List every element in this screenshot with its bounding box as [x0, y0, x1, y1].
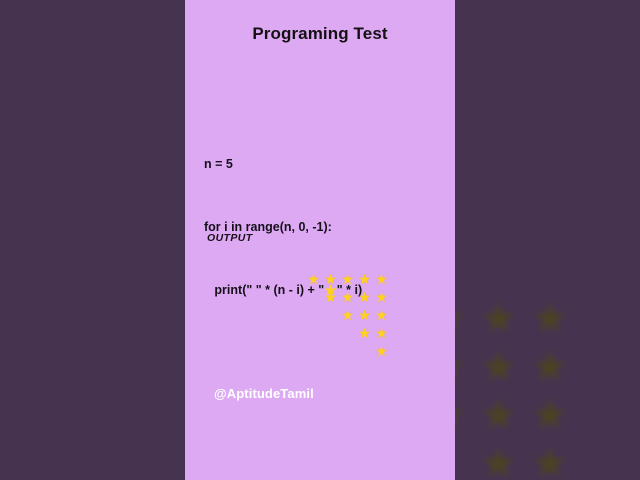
star-icon: ★: [373, 342, 390, 360]
channel-watermark: @AptitudeTamil: [214, 386, 314, 401]
star-row: ★★★: [305, 306, 390, 324]
code-line-1: n = 5: [204, 154, 362, 175]
content-panel: Programing Test n = 5 for i in range(n, …: [185, 0, 455, 480]
star-row: ★★: [305, 324, 390, 342]
star-icon: ★: [373, 270, 390, 288]
star-row: ★★★★: [305, 288, 390, 306]
star-row: ★: [305, 342, 390, 360]
star-icon: ★: [524, 296, 575, 344]
star-icon: ★: [356, 324, 373, 342]
star-icon: ★: [473, 393, 524, 441]
star-icon: ★: [339, 270, 356, 288]
star-icon: ★: [356, 288, 373, 306]
star-icon: ★: [524, 441, 575, 480]
star-icon: ★: [305, 270, 322, 288]
star-icon: ★: [473, 441, 524, 480]
page-title: Programing Test: [185, 24, 455, 44]
star-icon: ★: [373, 324, 390, 342]
star-icon: ★: [524, 345, 575, 393]
star-icon: ★: [356, 270, 373, 288]
star-icon: ★: [373, 288, 390, 306]
star-icon: ★: [339, 306, 356, 324]
video-frame: for i in print " * i) OUTPUT ★★★★★★★★★★★…: [0, 0, 640, 480]
star-icon: ★: [322, 288, 339, 306]
star-row: ★★★★★: [305, 270, 390, 288]
star-icon: ★: [524, 393, 575, 441]
star-pattern-output: ★★★★★★★★★★★★★★★: [305, 270, 390, 360]
star-icon: ★: [473, 296, 524, 344]
star-icon: ★: [473, 345, 524, 393]
star-icon: ★: [322, 270, 339, 288]
output-label: OUTPUT: [207, 232, 253, 244]
star-icon: ★: [339, 288, 356, 306]
star-icon: ★: [373, 306, 390, 324]
star-icon: ★: [356, 306, 373, 324]
